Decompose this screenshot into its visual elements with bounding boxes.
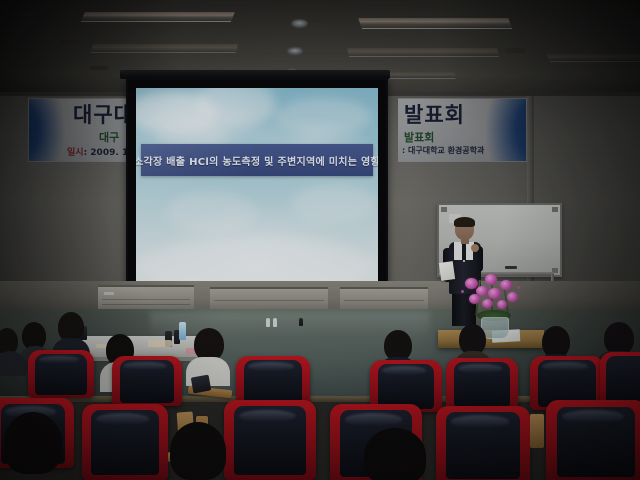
radiator-badge [104,292,114,295]
presenter-hair [454,217,475,227]
seat-highlight [458,364,503,372]
seat-highlight [542,362,588,371]
slide-title-bar: 소각장 배출 HCl의 농도측정 및 주변지역에 미치는 영향 [141,144,373,176]
ceiling-shadow-right [440,0,640,96]
audience-person [0,412,72,480]
person-head [364,428,426,480]
seat-highlight [123,362,166,370]
orchid-bloom [500,280,512,290]
seat-tablet-arm [191,375,212,394]
projection-screen: 소각장 배출 HCl의 농도측정 및 주변지역에 미치는 영향 [126,78,388,303]
slide-cloud [291,184,376,224]
auditorium-seat [446,358,518,410]
whiteboard-corner [552,207,558,212]
presenter-tie [462,244,466,260]
auditorium-seat [600,352,640,406]
whiteboard-marker-icon [505,266,517,269]
orchid-bloom [485,274,497,285]
projection-screen-surface: 소각장 배출 HCl의 농도측정 및 주변지역에 미치는 영향 [136,88,378,290]
seat-tablet-arm [530,414,544,448]
seat-highlight [248,362,294,370]
presenter-hand [471,244,479,252]
auditorium-seat [112,356,182,406]
conference-photo: 대구대 대구 일시: 2009. 11. 20(금 발표회 발표회 : 대구대학… [0,0,640,480]
audience-person [0,328,26,376]
slide-cloud [276,98,371,136]
orchid-bloom [488,288,501,299]
seat-highlight [451,415,509,427]
slide-cloud [166,192,256,234]
seat-highlight [382,366,427,374]
auditorium-seat [224,400,316,480]
person-shoulders [0,351,26,376]
seat-highlight [562,410,624,423]
person-head [4,412,62,474]
slide-title-text: 소각장 배출 HCl의 농도측정 및 주변지역에 미치는 영향 [136,153,378,168]
person-head [170,422,226,480]
audience-person [168,422,234,480]
auditorium-seat [546,400,640,480]
orchid-bud [461,290,464,293]
seat-cushion [606,356,640,402]
audience-person [362,428,434,480]
audience-seating [0,300,640,480]
ceiling-downlight-icon [292,20,307,27]
seat-highlight [345,413,402,425]
auditorium-seat [436,406,530,480]
ceiling-downlight-icon [288,48,302,54]
presenter-papers [439,261,455,281]
auditorium-seat [28,350,94,398]
auditorium-seat [82,404,168,480]
whiteboard-corner [441,207,447,212]
orchid-bud [517,286,520,289]
